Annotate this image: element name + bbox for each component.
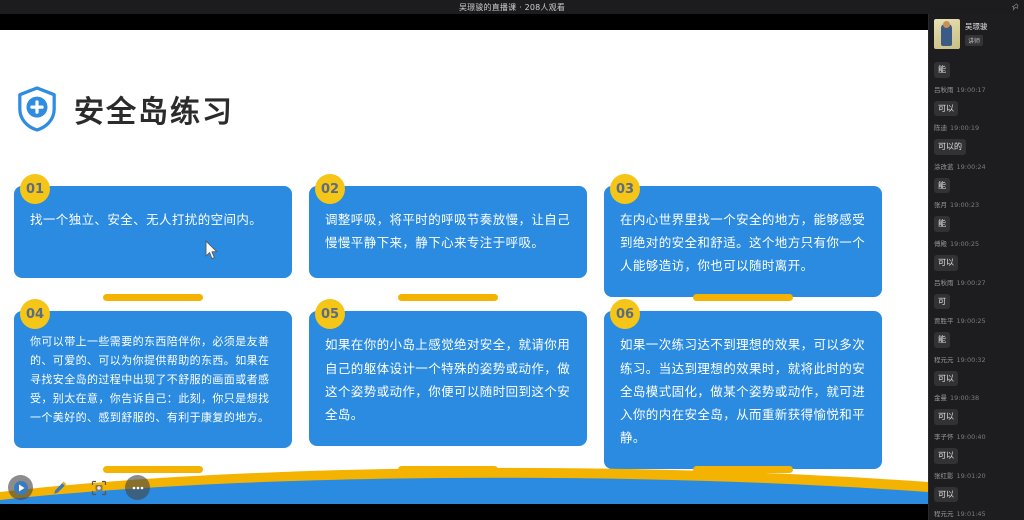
step-badge: 02 bbox=[315, 174, 345, 204]
chat-message: 李子怀19:00:40 可以 bbox=[934, 431, 1019, 464]
step-card-text: 如果在你的小岛上感觉绝对安全，就请你用自己的躯体设计一个特殊的姿势或动作，做这个… bbox=[325, 333, 571, 426]
step-card-06: 06 如果一次练习达不到理想的效果，可以多次练习。当达到理想的效果时，就将此时的… bbox=[604, 311, 882, 469]
card-underbar bbox=[693, 294, 793, 301]
shield-plus-icon bbox=[16, 86, 58, 132]
ellipsis-icon bbox=[130, 480, 146, 496]
chat-message-text: 能 bbox=[934, 178, 950, 194]
chat-message-text: 能 bbox=[934, 62, 950, 78]
chat-message-time: 19:00:24 bbox=[957, 163, 986, 171]
chat-message-user: 程元元 bbox=[934, 356, 954, 364]
card-underbar bbox=[398, 466, 498, 473]
step-card-text: 调整呼吸，将平时的呼吸节奏放慢，让自己慢慢平静下来，静下心来专注于呼吸。 bbox=[325, 208, 571, 254]
mouse-cursor bbox=[205, 240, 218, 260]
live-class-window: 吴璟骏的直播课 · 208人观看 安全岛练习 bbox=[0, 0, 1024, 520]
chat-message-user: 张月 bbox=[934, 201, 947, 209]
chat-message: 吕秋雨19:00:17 可以 bbox=[934, 84, 1019, 117]
chat-message: 傅殿19:00:25 可以 bbox=[934, 238, 1019, 271]
chat-panel[interactable]: 吴璟骏 讲师 能 吕秋雨19:00:17 可以 陈迪19:00:19 可以的 bbox=[928, 14, 1024, 520]
chat-message-time: 19:00:38 bbox=[950, 394, 979, 402]
chat-message-text: 可以 bbox=[934, 255, 958, 271]
step-card-05: 05 如果在你的小岛上感觉绝对安全，就请你用自己的躯体设计一个特殊的姿势或动作，… bbox=[309, 311, 587, 469]
chat-message-text: 可以 bbox=[934, 487, 958, 503]
step-card-body: 你可以带上一些需要的东西陪伴你，必须是友善的、可爱的、可以为你提供帮助的东西。如… bbox=[14, 311, 292, 448]
chat-message-meta: 涂改蓝19:00:24 bbox=[934, 161, 1019, 171]
chat-message: 程元元19:00:32 可以 bbox=[934, 354, 1019, 387]
screenshot-button[interactable] bbox=[86, 475, 111, 500]
chat-message-text: 可以 bbox=[934, 409, 958, 425]
chat-message-meta: 吕秋雨19:00:27 bbox=[934, 277, 1019, 287]
chat-message-meta: 张红影19:01:20 bbox=[934, 470, 1019, 480]
chat-message-user: 吕秋雨 bbox=[934, 86, 954, 94]
chat-message: 涂改蓝19:00:24 能 bbox=[934, 161, 1019, 194]
chat-message-time: 19:00:17 bbox=[957, 86, 986, 94]
chat-message-user: 程元元 bbox=[934, 510, 954, 518]
host-role-badge: 讲师 bbox=[965, 35, 983, 46]
page-title: 安全岛练习 bbox=[74, 87, 234, 131]
play-icon bbox=[13, 480, 29, 496]
step-card-body: 如果一次练习达不到理想的效果，可以多次练习。当达到理想的效果时，就将此时的安全岛… bbox=[604, 311, 882, 469]
avatar-head bbox=[943, 21, 950, 28]
pin-icon[interactable] bbox=[1011, 3, 1020, 12]
host-profile: 吴璟骏 讲师 bbox=[929, 14, 1024, 55]
chat-message: 贾胜平19:00:25 能 bbox=[934, 315, 1019, 348]
chat-message-user: 吕秋雨 bbox=[934, 279, 954, 287]
window-title: 吴璟骏的直播课 · 208人观看 bbox=[459, 2, 565, 13]
chat-message-user: 张红影 bbox=[934, 472, 954, 480]
chat-message-meta: 程元元19:00:32 bbox=[934, 354, 1019, 364]
chat-message-time: 19:00:27 bbox=[957, 279, 986, 287]
chat-message-text: 可以的 bbox=[934, 139, 966, 155]
stage-letterbox bbox=[0, 14, 928, 30]
chat-message-time: 19:01:20 bbox=[957, 472, 986, 480]
chat-message: 张红影19:01:20 可以 bbox=[934, 470, 1019, 503]
step-badge: 01 bbox=[20, 174, 50, 204]
chat-message: 陈迪19:00:19 可以的 bbox=[934, 122, 1019, 155]
chat-message-text: 能 bbox=[934, 216, 950, 232]
chat-message-user: 李子怀 bbox=[934, 433, 954, 441]
slide-canvas: 安全岛练习 01 找一个独立、安全、无人打扰的空间内。 02 调整呼吸，将平时的… bbox=[0, 30, 928, 504]
chat-message-text: 可以 bbox=[934, 101, 958, 117]
chat-message-time: 19:01:45 bbox=[957, 510, 986, 518]
chat-message-time: 19:00:25 bbox=[950, 240, 979, 248]
pencil-icon bbox=[52, 480, 68, 496]
card-underbar bbox=[103, 294, 203, 301]
titlebar-actions bbox=[1011, 0, 1020, 14]
step-card-02: 02 调整呼吸，将平时的呼吸节奏放慢，让自己慢慢平静下来，静下心来专注于呼吸。 bbox=[309, 186, 587, 297]
chat-message-meta: 陈迪19:00:19 bbox=[934, 122, 1019, 132]
host-meta: 吴璟骏 讲师 bbox=[965, 19, 988, 46]
chat-message: 能 bbox=[934, 57, 1019, 78]
chat-message-meta: 吕秋雨19:00:17 bbox=[934, 84, 1019, 94]
card-underbar bbox=[103, 466, 203, 473]
chat-message-text: 能 bbox=[934, 332, 950, 348]
presentation-stage[interactable]: 安全岛练习 01 找一个独立、安全、无人打扰的空间内。 02 调整呼吸，将平时的… bbox=[0, 14, 928, 520]
step-card-03: 03 在内心世界里找一个安全的地方，能够感受到绝对的安全和舒适。这个地方只有你一… bbox=[604, 186, 882, 297]
chat-message-text: 可以 bbox=[934, 371, 958, 387]
window-titlebar: 吴璟骏的直播课 · 208人观看 bbox=[0, 0, 1024, 14]
chat-message-meta: 程元元19:01:45 bbox=[934, 508, 1019, 518]
chat-message-meta: 贾胜平19:00:25 bbox=[934, 315, 1019, 325]
step-card-text: 在内心世界里找一个安全的地方，能够感受到绝对的安全和舒适。这个地方只有你一个人能… bbox=[620, 208, 866, 277]
card-underbar bbox=[693, 466, 793, 473]
step-card-text: 找一个独立、安全、无人打扰的空间内。 bbox=[30, 208, 276, 231]
chat-message-user: 涂改蓝 bbox=[934, 163, 954, 171]
play-button[interactable] bbox=[8, 475, 33, 500]
chat-message-user: 贾胜平 bbox=[934, 317, 954, 325]
chat-message-time: 19:00:19 bbox=[950, 124, 979, 132]
stage-toolbar bbox=[8, 475, 150, 500]
host-name: 吴璟骏 bbox=[965, 21, 988, 32]
screenshot-icon bbox=[91, 480, 107, 496]
chat-message: 程元元19:01:45 随演，你讲座结束的时候，句 bbox=[934, 508, 1019, 520]
steps-grid: 01 找一个独立、安全、无人打扰的空间内。 02 调整呼吸，将平时的呼吸节奏放慢… bbox=[14, 186, 898, 469]
chat-message: 金曼19:00:38 可以 bbox=[934, 392, 1019, 425]
step-card-body: 找一个独立、安全、无人打扰的空间内。 bbox=[14, 186, 292, 278]
chat-message-meta: 李子怀19:00:40 bbox=[934, 431, 1019, 441]
step-card-01: 01 找一个独立、安全、无人打扰的空间内。 bbox=[14, 186, 292, 297]
chat-message-user: 金曼 bbox=[934, 394, 947, 402]
step-badge: 03 bbox=[610, 174, 640, 204]
chat-message-user: 傅殿 bbox=[934, 240, 947, 248]
more-button[interactable] bbox=[125, 475, 150, 500]
step-card-body: 如果在你的小岛上感觉绝对安全，就请你用自己的躯体设计一个特殊的姿势或动作，做这个… bbox=[309, 311, 587, 446]
avatar bbox=[934, 19, 960, 49]
chat-message-text: 可以 bbox=[934, 448, 958, 464]
chat-message: 张月19:00:23 能 bbox=[934, 199, 1019, 232]
step-card-body: 在内心世界里找一个安全的地方，能够感受到绝对的安全和舒适。这个地方只有你一个人能… bbox=[604, 186, 882, 297]
chat-message-text: 可 bbox=[934, 294, 950, 310]
step-card-text: 你可以带上一些需要的东西陪伴你，必须是友善的、可爱的、可以为你提供帮助的东西。如… bbox=[30, 333, 276, 428]
chat-message-meta: 傅殿19:00:25 bbox=[934, 238, 1019, 248]
annotate-button[interactable] bbox=[47, 475, 72, 500]
step-card-text: 如果一次练习达不到理想的效果，可以多次练习。当达到理想的效果时，就将此时的安全岛… bbox=[620, 333, 866, 449]
step-card-body: 调整呼吸，将平时的呼吸节奏放慢，让自己慢慢平静下来，静下心来专注于呼吸。 bbox=[309, 186, 587, 278]
card-underbar bbox=[398, 294, 498, 301]
chat-message-meta: 张月19:00:23 bbox=[934, 199, 1019, 209]
chat-message-time: 19:00:32 bbox=[957, 356, 986, 364]
chat-message-user: 陈迪 bbox=[934, 124, 947, 132]
chat-message-list[interactable]: 能 吕秋雨19:00:17 可以 陈迪19:00:19 可以的 涂改蓝19:00… bbox=[929, 55, 1024, 520]
chat-message-meta: 金曼19:00:38 bbox=[934, 392, 1019, 402]
chat-message-time: 19:00:40 bbox=[957, 433, 986, 441]
chat-message-time: 19:00:23 bbox=[950, 201, 979, 209]
chat-message-time: 19:00:25 bbox=[957, 317, 986, 325]
chat-message: 吕秋雨19:00:27 可 bbox=[934, 277, 1019, 310]
step-card-04: 04 你可以带上一些需要的东西陪伴你，必须是友善的、可爱的、可以为你提供帮助的东… bbox=[14, 311, 292, 469]
slide-header: 安全岛练习 bbox=[16, 86, 234, 132]
